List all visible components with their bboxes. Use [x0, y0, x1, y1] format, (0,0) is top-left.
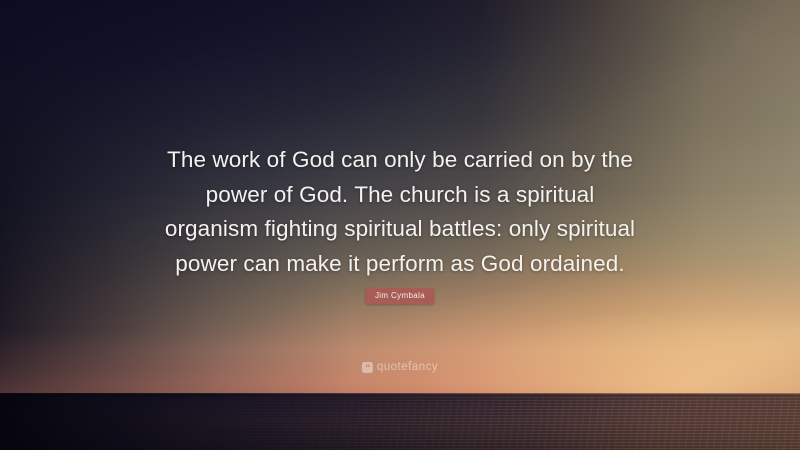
watermark-brand: quotefancy [377, 361, 438, 373]
quote-line: power can make it perform as God ordaine… [150, 247, 650, 282]
quote-line: The work of God can only be carried on b… [150, 143, 650, 178]
quote-line: power of God. The church is a spiritual [150, 178, 650, 213]
quote-mark-icon: “ [362, 362, 373, 373]
quote-text: The work of God can only be carried on b… [150, 143, 650, 281]
quote-line: organism fighting spiritual battles: onl… [150, 212, 650, 247]
quote-overlay: The work of God can only be carried on b… [0, 0, 800, 450]
author-badge[interactable]: Jim Cymbala [366, 288, 434, 304]
quote-image: The work of God can only be carried on b… [0, 0, 800, 450]
watermark[interactable]: “ quotefancy [362, 361, 438, 373]
quote-mark-glyph: “ [365, 363, 369, 372]
